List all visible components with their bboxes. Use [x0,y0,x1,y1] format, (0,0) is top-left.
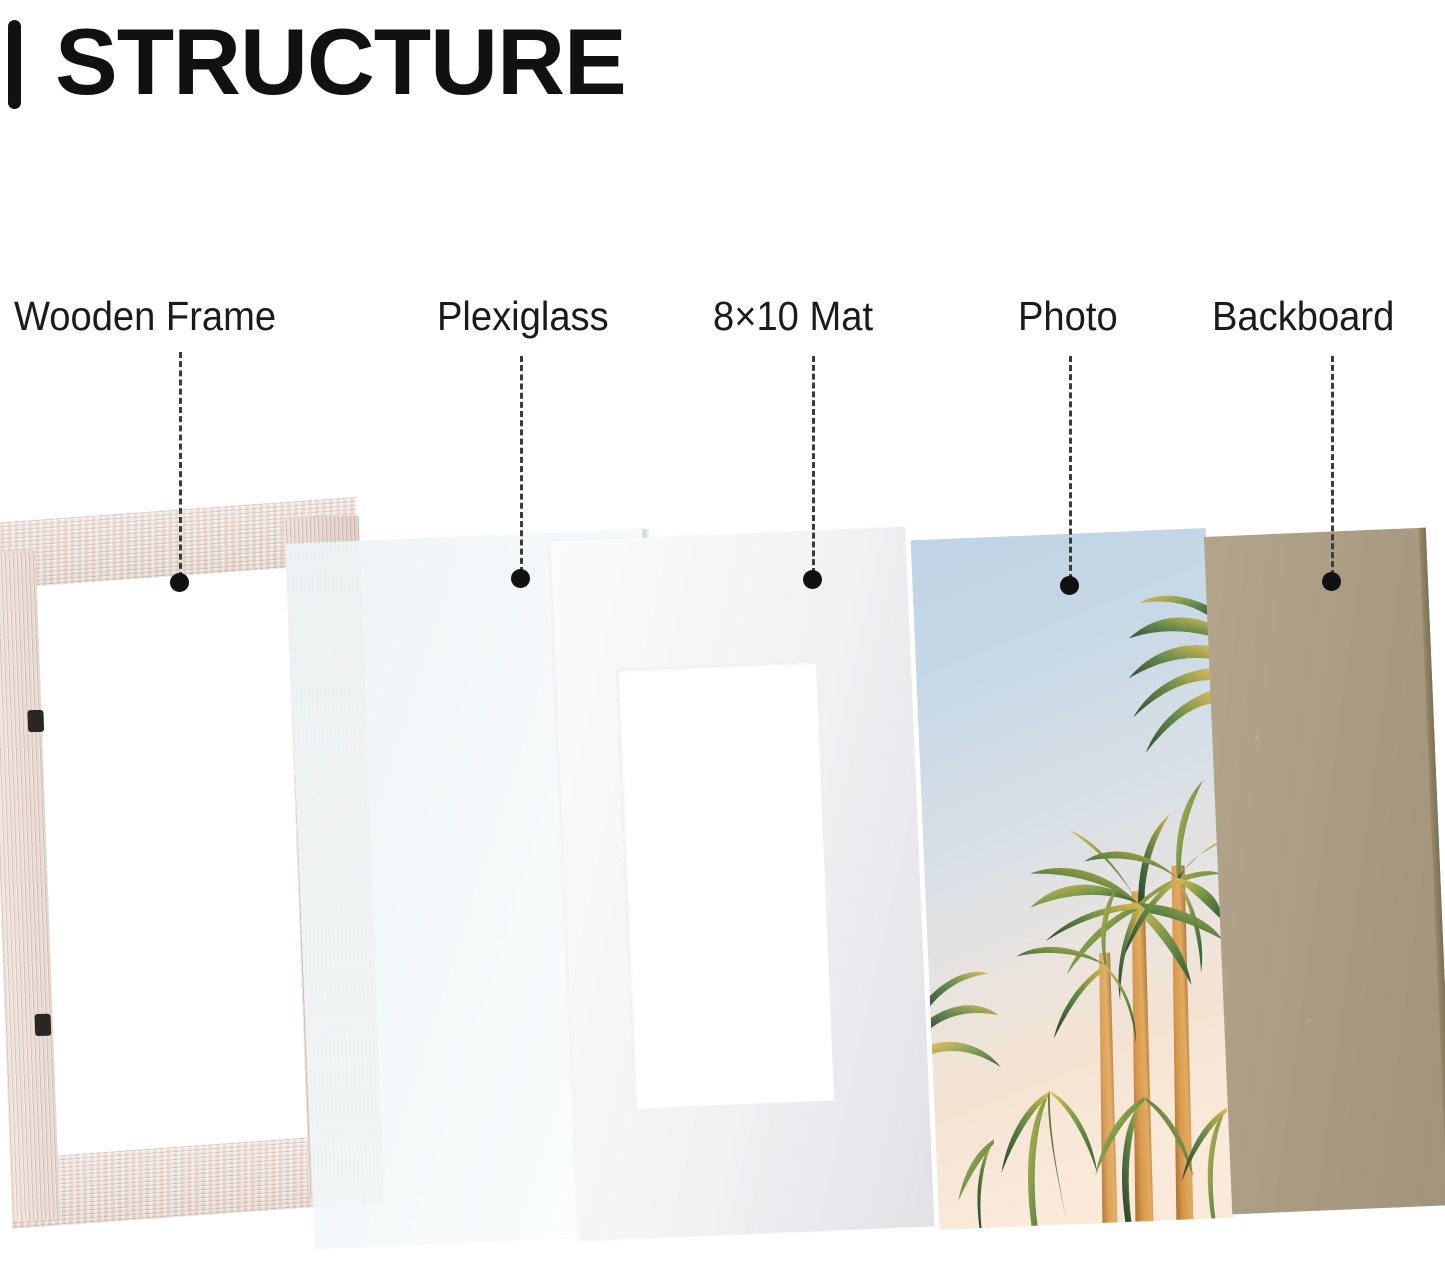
frame-clip-upper [27,710,44,732]
exploded-view-stage [0,0,1445,1269]
leader-line-mat [812,356,815,574]
leader-line-plexiglass [520,356,523,573]
leader-line-backboard [1331,356,1334,576]
leader-dot-mat [803,570,822,589]
leader-dot-backboard [1322,572,1341,591]
backboard-right-edge [1419,528,1445,1206]
layer-mat [550,527,934,1241]
frame-clip-lower [35,1014,52,1036]
leader-dot-photo [1060,576,1079,595]
leader-line-photo [1069,356,1072,580]
leader-line-wooden-frame [179,352,182,578]
mat-window-opening [616,661,834,1109]
layer-backboard [1204,528,1445,1215]
layer-photo [911,528,1235,1230]
palm-trees-photo-icon [911,528,1235,1230]
leader-dot-wooden-frame [170,573,189,592]
frame-left-rail [0,550,60,1221]
leader-dot-plexiglass [511,569,530,588]
